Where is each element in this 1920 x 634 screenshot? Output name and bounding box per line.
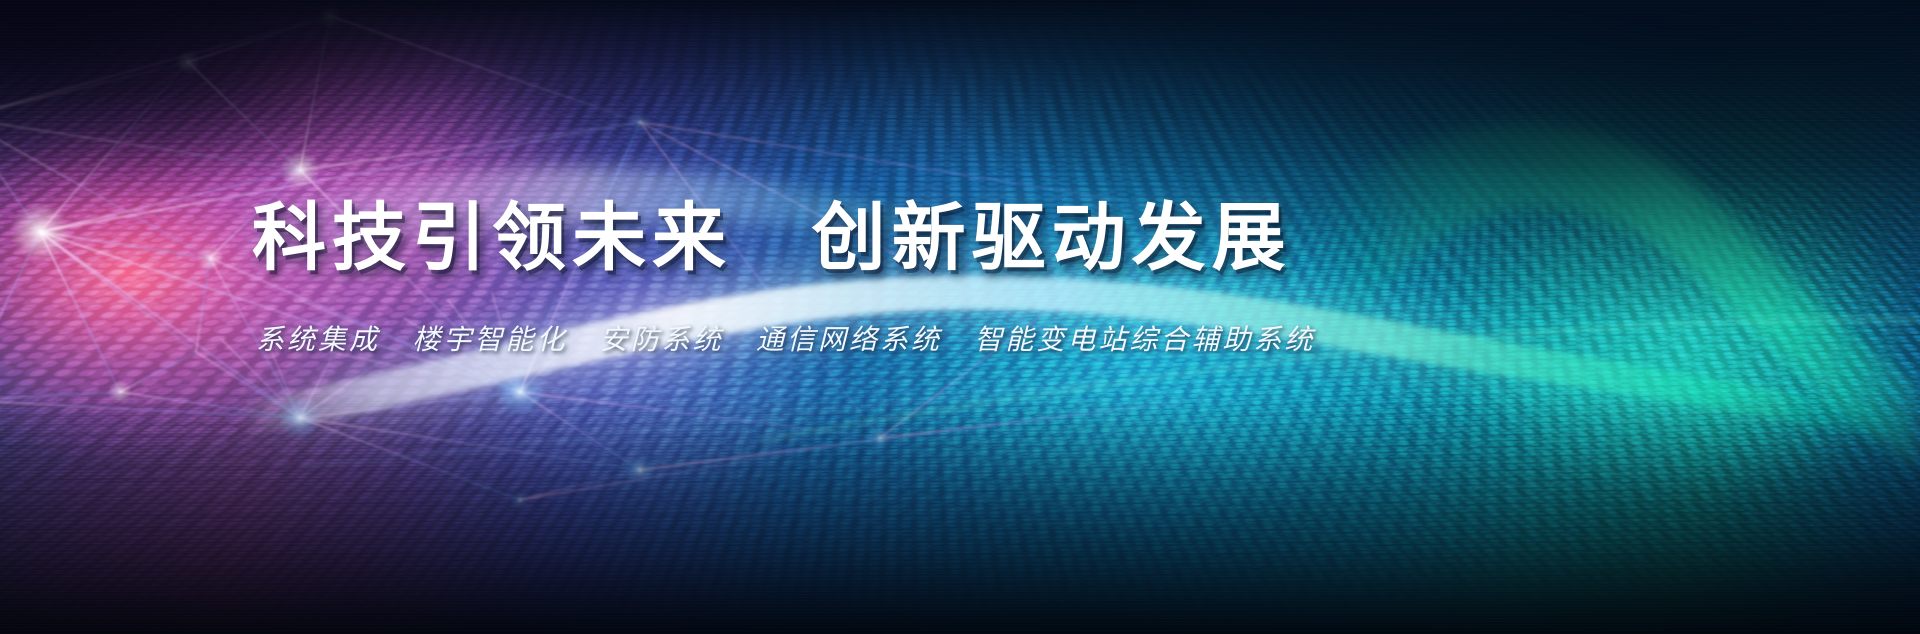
tech-banner: 科技引领未来 创新驱动发展 系统集成 楼宇智能化 安防系统 通信网络系统 智能变… [0, 0, 1920, 634]
banner-subline: 系统集成 楼宇智能化 安防系统 通信网络系统 智能变电站综合辅助系统 [256, 322, 1652, 358]
banner-text-block: 科技引领未来 创新驱动发展 系统集成 楼宇智能化 安防系统 通信网络系统 智能变… [252, 196, 1652, 358]
banner-headline: 科技引领未来 创新驱动发展 [252, 196, 1652, 280]
